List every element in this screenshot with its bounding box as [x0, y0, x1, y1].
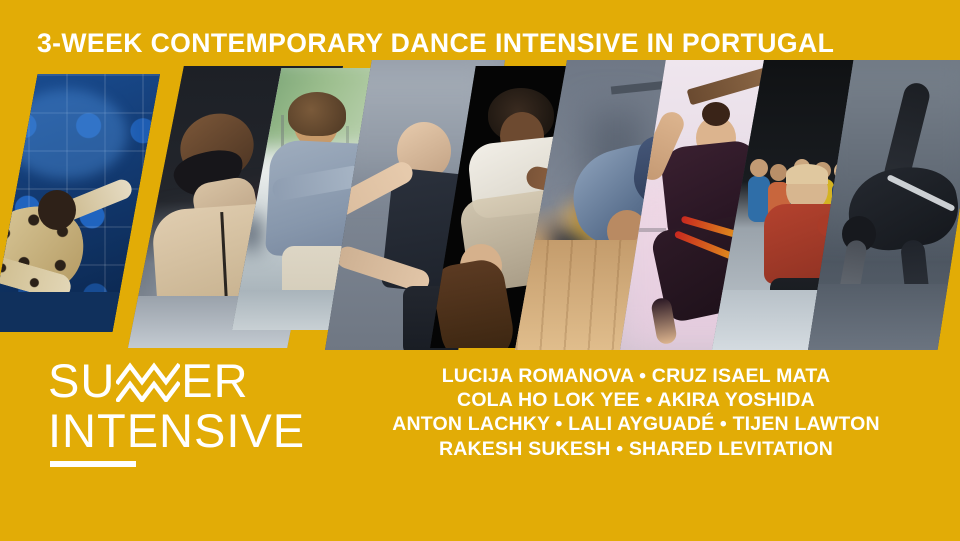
artist-names-list: LUCIJA ROMANOVA • CRUZ ISAEL MATA COLA H… — [350, 364, 922, 461]
artist-names-line: LUCIJA ROMANOVA • CRUZ ISAEL MATA — [350, 364, 922, 388]
zigzag-mark-icon — [116, 362, 180, 402]
photo-collage — [0, 60, 960, 350]
artist-names-line: COLA HO LOK YEE • AKIRA YOSHIDA — [350, 388, 922, 412]
artist-names-line: ANTON LACHKY • LALI AYGUADÉ • TIJEN LAWT… — [350, 412, 922, 436]
collage-panel-1 — [0, 74, 160, 332]
logo-text-er: ER — [181, 358, 248, 404]
artist-names-line: RAKESH SUKESH • SHARED LEVITATION — [350, 437, 922, 461]
logo-underline — [50, 461, 136, 467]
page-title: 3-WEEK CONTEMPORARY DANCE INTENSIVE IN P… — [37, 27, 914, 59]
logo-text-su: SU — [48, 358, 115, 404]
poster-root: 3-WEEK CONTEMPORARY DANCE INTENSIVE IN P… — [0, 0, 960, 541]
logo-line-2: INTENSIVE — [48, 406, 348, 456]
logo-line-1: SU ER — [48, 358, 348, 404]
logo: SU ER INTENSIVE — [48, 358, 348, 467]
